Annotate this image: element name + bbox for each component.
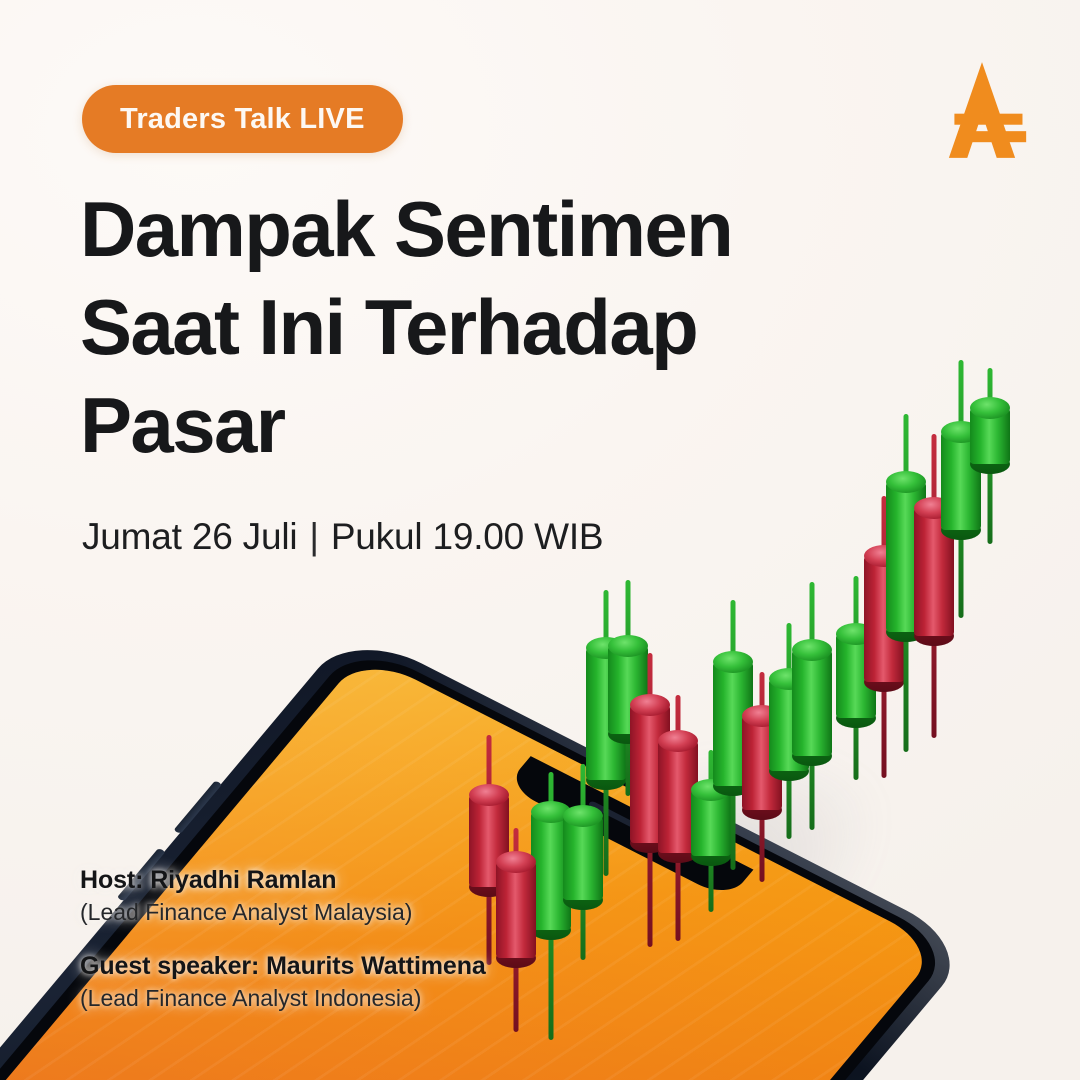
host-credit: Host: Riyadhi Ramlan (Lead Finance Analy… — [80, 866, 486, 926]
host-name: Host: Riyadhi Ramlan — [80, 866, 486, 895]
title-line-1: Dampak Sentimen — [80, 190, 840, 268]
candle-body — [792, 650, 832, 756]
title-line-2: Saat Ini Terhadap — [80, 288, 840, 366]
candle-top — [713, 651, 753, 673]
guest-role: (Lead Finance Analyst Indonesia) — [80, 985, 486, 1012]
host-role: (Lead Finance Analyst Malaysia) — [80, 899, 486, 926]
live-badge-label: Traders Talk LIVE — [120, 103, 365, 136]
candle-top — [658, 730, 698, 752]
octa-a-logo-icon — [936, 58, 1028, 162]
live-badge[interactable]: Traders Talk LIVE — [82, 85, 403, 153]
title-line-3: Pasar — [80, 386, 840, 464]
schedule-line: Jumat 26 Juli|Pukul 19.00 WIB — [82, 516, 603, 558]
candle-top — [970, 397, 1010, 419]
guest-name: Guest speaker: Maurits Wattimena — [80, 952, 486, 981]
schedule-time: Pukul 19.00 WIB — [331, 516, 604, 557]
speaker-credits: Host: Riyadhi Ramlan (Lead Finance Analy… — [80, 866, 486, 1038]
candle-red — [496, 828, 536, 1032]
candle-body — [496, 862, 536, 958]
candle-green — [970, 368, 1010, 544]
guest-credit: Guest speaker: Maurits Wattimena (Lead F… — [80, 952, 486, 1012]
candle-top — [469, 784, 509, 806]
candle-top — [792, 639, 832, 661]
poster-canvas: Traders Talk LIVE Dampak Sentimen Saat I… — [0, 0, 1080, 1080]
page-title: Dampak Sentimen Saat Ini Terhadap Pasar — [80, 190, 840, 484]
candle-top — [496, 851, 536, 873]
schedule-date: Jumat 26 Juli — [82, 516, 297, 557]
candle-green — [792, 582, 832, 830]
schedule-separator: | — [309, 516, 318, 557]
